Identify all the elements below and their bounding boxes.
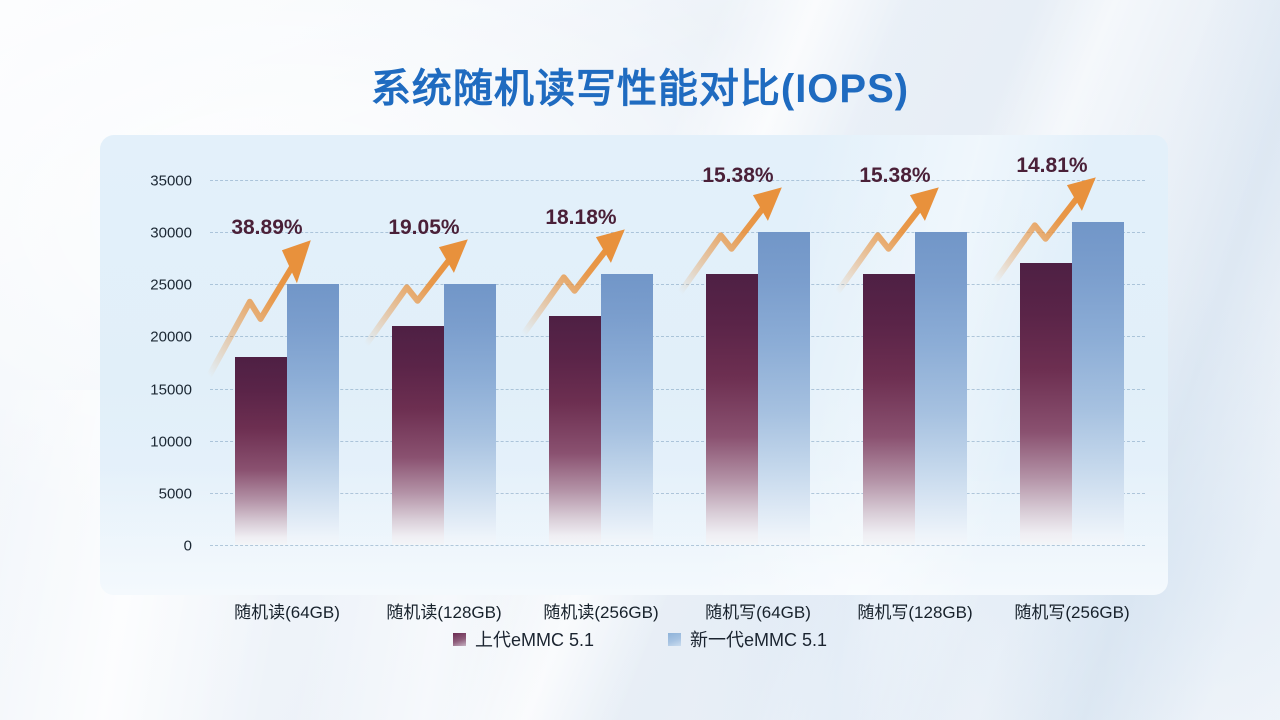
legend-swatch-icon <box>668 633 681 646</box>
bar-prev-5[interactable] <box>1020 263 1072 545</box>
x-axis-label-1: 随机读(128GB) <box>386 598 501 623</box>
gridline: 30000 <box>210 232 1145 233</box>
legend-label: 新一代eMMC 5.1 <box>690 626 827 652</box>
bar-prev-2[interactable] <box>549 316 601 545</box>
legend-label: 上代eMMC 5.1 <box>475 626 594 652</box>
legend-item-next[interactable]: 新一代eMMC 5.1 <box>668 626 827 652</box>
growth-percent-label-3: 15.38% <box>702 164 773 188</box>
gridline: 0 <box>210 545 1145 546</box>
gridline: 5000 <box>210 493 1145 494</box>
bar-prev-1[interactable] <box>392 326 444 545</box>
chart-legend: 上代eMMC 5.1新一代eMMC 5.1 <box>0 626 1280 652</box>
y-axis-tick-label: 10000 <box>150 433 192 450</box>
y-axis-tick-label: 0 <box>184 538 192 555</box>
growth-percent-label-2: 18.18% <box>545 206 616 230</box>
bar-next-5[interactable] <box>1072 222 1124 545</box>
plot-area: 0500010000150002000025000300003500038.89… <box>210 180 1145 545</box>
x-axis-labels: 随机读(64GB)随机读(128GB)随机读(256GB)随机写(64GB)随机… <box>100 598 1168 628</box>
x-axis-label-2: 随机读(256GB) <box>543 598 658 623</box>
bar-next-0[interactable] <box>287 284 339 545</box>
gridline: 20000 <box>210 336 1145 337</box>
y-axis-tick-label: 25000 <box>150 277 192 294</box>
y-axis-tick-label: 15000 <box>150 381 192 398</box>
bar-next-4[interactable] <box>915 232 967 545</box>
y-axis-tick-label: 35000 <box>150 173 192 190</box>
bar-prev-3[interactable] <box>706 274 758 545</box>
page-title: 系统随机读写性能对比(IOPS) <box>0 56 1280 114</box>
bar-prev-4[interactable] <box>863 274 915 545</box>
x-axis-label-4: 随机写(128GB) <box>857 598 972 623</box>
growth-percent-label-4: 15.38% <box>859 164 930 188</box>
bar-next-1[interactable] <box>444 284 496 545</box>
bar-prev-0[interactable] <box>235 357 287 545</box>
gridline: 25000 <box>210 284 1145 285</box>
growth-percent-label-5: 14.81% <box>1016 154 1087 178</box>
y-axis-tick-label: 30000 <box>150 225 192 242</box>
x-axis-label-3: 随机写(64GB) <box>705 598 811 623</box>
x-axis-label-5: 随机写(256GB) <box>1014 598 1129 623</box>
gridline: 15000 <box>210 389 1145 390</box>
growth-percent-label-1: 19.05% <box>388 216 459 240</box>
bar-next-2[interactable] <box>601 274 653 545</box>
y-axis-tick-label: 20000 <box>150 329 192 346</box>
chart-panel: 0500010000150002000025000300003500038.89… <box>100 135 1168 595</box>
growth-percent-label-0: 38.89% <box>231 216 302 240</box>
gridline: 10000 <box>210 441 1145 442</box>
y-axis-tick-label: 5000 <box>159 485 192 502</box>
legend-item-prev[interactable]: 上代eMMC 5.1 <box>453 626 594 652</box>
bar-next-3[interactable] <box>758 232 810 545</box>
legend-swatch-icon <box>453 633 466 646</box>
gridline: 35000 <box>210 180 1145 181</box>
x-axis-label-0: 随机读(64GB) <box>234 598 340 623</box>
